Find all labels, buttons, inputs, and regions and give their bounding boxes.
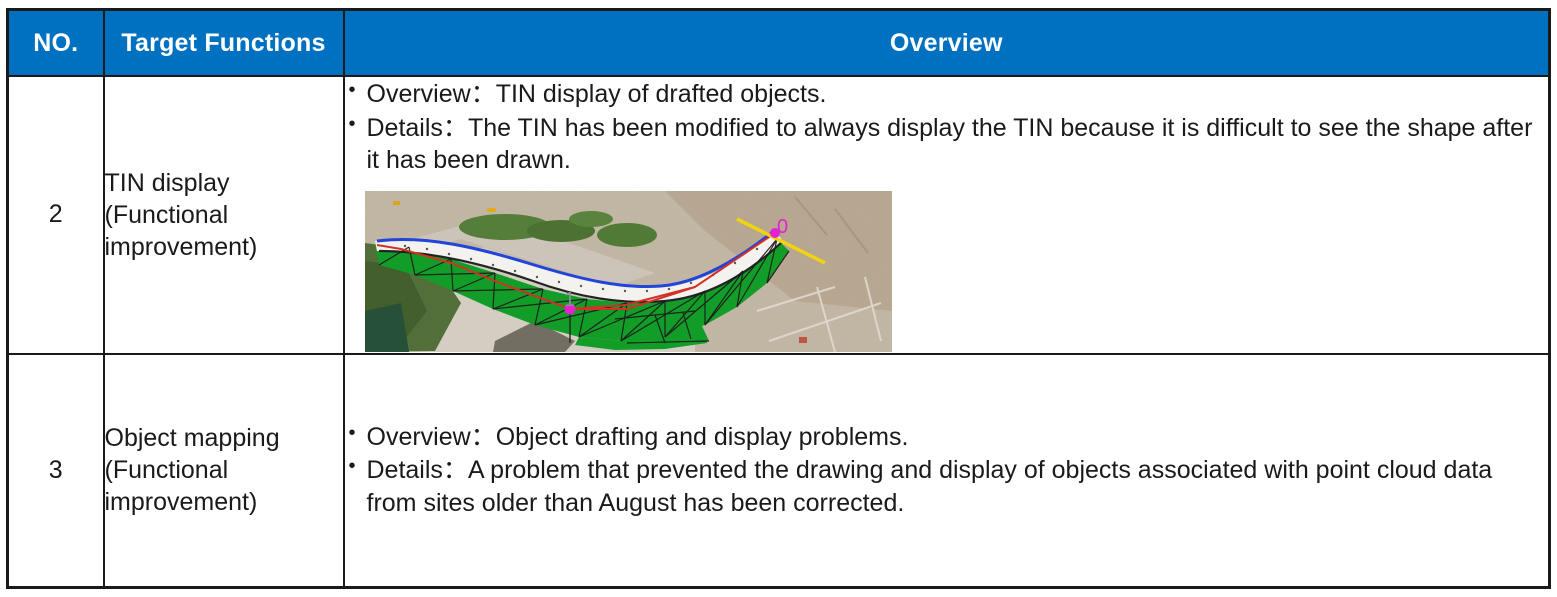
- cell-no: 2: [8, 76, 104, 354]
- bullet-label: Details: [367, 114, 443, 142]
- bullet-text: TIN display of drafted objects.: [496, 80, 827, 108]
- bullet-list: Overview：TIN display of drafted objects.…: [345, 78, 1549, 177]
- column-header-target: Target Functions: [104, 10, 344, 77]
- cell-overview: Overview：Object drafting and display pro…: [344, 354, 1550, 588]
- bullet-text: A problem that prevented the drawing and…: [367, 456, 1493, 517]
- table-body: 2 TIN display (Functional improvement) O…: [8, 76, 1550, 588]
- bullet-label: Overview: [367, 80, 471, 108]
- cell-no: 3: [8, 354, 104, 588]
- list-item: Overview：Object drafting and display pro…: [345, 421, 1549, 454]
- list-item: Details：The TIN has been modified to alw…: [345, 112, 1549, 177]
- target-line: improvement): [105, 486, 343, 518]
- cell-overview: Overview：TIN display of drafted objects.…: [344, 76, 1550, 354]
- bullet-text: The TIN has been modified to always disp…: [367, 114, 1533, 175]
- aerial-tin-overlay-figure: 0 1: [365, 191, 892, 352]
- target-line: (Functional: [105, 199, 343, 231]
- header-row: NO. Target Functions Overview: [8, 10, 1550, 77]
- target-line: TIN display: [105, 167, 343, 199]
- column-header-overview: Overview: [344, 10, 1550, 77]
- list-item: Overview：TIN display of drafted objects.: [345, 78, 1549, 111]
- page-root: NO. Target Functions Overview 2 TIN disp…: [0, 0, 1557, 597]
- aerial-tin-overlay-image: 0 1: [365, 191, 892, 352]
- column-header-no: NO.: [8, 10, 104, 77]
- target-line: (Functional: [105, 454, 343, 486]
- bullet-separator: ：: [471, 80, 496, 108]
- bullet-separator: ：: [471, 423, 496, 451]
- bullet-separator: ：: [443, 114, 468, 142]
- table-header: NO. Target Functions Overview: [8, 10, 1550, 77]
- target-line: Object mapping: [105, 422, 343, 454]
- cell-target-functions: TIN display (Functional improvement): [104, 76, 344, 354]
- list-item: Details：A problem that prevented the dra…: [345, 454, 1549, 519]
- release-notes-table: NO. Target Functions Overview 2 TIN disp…: [6, 8, 1551, 589]
- bullet-label: Details: [367, 456, 443, 484]
- table-row: 2 TIN display (Functional improvement) O…: [8, 76, 1550, 354]
- target-line: improvement): [105, 231, 343, 263]
- bullet-text: Object drafting and display problems.: [496, 423, 909, 451]
- bullet-label: Overview: [367, 423, 471, 451]
- cell-target-functions: Object mapping (Functional improvement): [104, 354, 344, 588]
- bullet-list: Overview：Object drafting and display pro…: [345, 421, 1549, 520]
- table-row: 3 Object mapping (Functional improvement…: [8, 354, 1550, 588]
- bullet-separator: ：: [443, 456, 468, 484]
